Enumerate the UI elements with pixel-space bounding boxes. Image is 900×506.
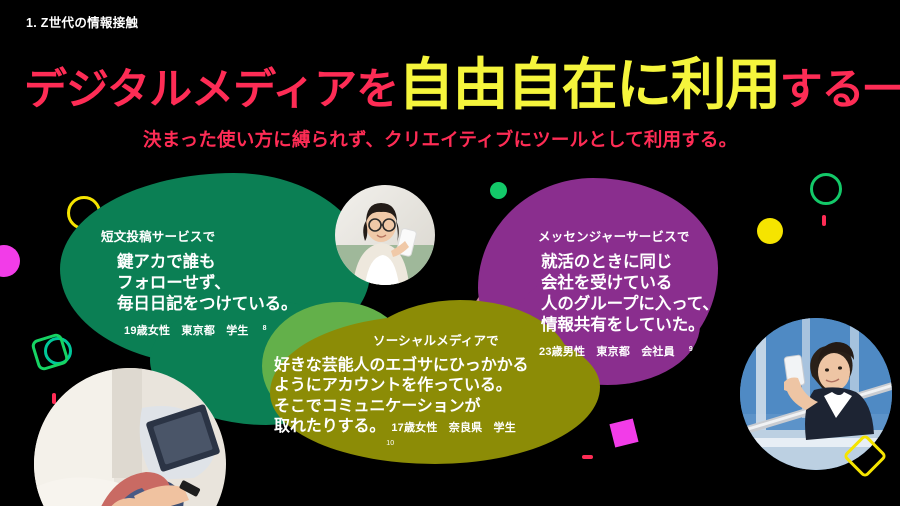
headline-part-3: する一面も。 <box>780 66 900 114</box>
section-label: 1. Z世代の情報接触 <box>26 12 138 31</box>
footnote-marker: 10 <box>274 440 528 447</box>
quote-line: ようにアカウントを作っている。 <box>274 376 528 396</box>
quote-line: 好きな芸能人のエゴサにひっかかる <box>274 356 528 376</box>
slide-canvas: 1. Z世代の情報接触 デジタルメディアを自由自在に利用する一面も。 決まった使… <box>0 0 900 506</box>
quote-lead-olive: ソーシャルメディアで <box>274 330 528 349</box>
quote-lead-purple: メッセンジャーサービスで <box>538 226 719 245</box>
quote-line-with-attrib: 取れたりする。17歳女性 奈良県 学生 <box>274 417 528 437</box>
footnote-marker: 8 <box>263 325 267 332</box>
quote-line: 情報共有をしていた。 <box>541 315 719 336</box>
quote-body-green: 鍵アカで誰も フォローせず、 毎日日記をつけている。 <box>101 252 297 315</box>
quote-body-olive: 好きな芸能人のエゴサにひっかかる ようにアカウントを作っている。 そこでコミュニ… <box>274 356 528 438</box>
page-subtitle: 決まった使い方に縛られず、クリエイティブにツールとして利用する。 <box>143 126 737 152</box>
quote-line: 人のグループに入って、 <box>541 294 719 315</box>
quote-line: 就活のときに同じ <box>541 252 719 273</box>
attribution-text: 17歳女性 奈良県 学生 <box>391 422 516 434</box>
quote-lead-green: 短文投稿サービスで <box>101 226 297 245</box>
page-title: デジタルメディアを自由自在に利用する一面も。 <box>24 57 900 113</box>
footnote-marker: 9 <box>689 346 693 353</box>
quote-line: 会社を受けている <box>541 273 719 294</box>
quote-line: 取れたりする。 <box>274 418 385 435</box>
quote-line: フォローせず、 <box>117 273 297 294</box>
yellow-dot-icon <box>757 218 783 244</box>
quote-line: 鍵アカで誰も <box>117 252 297 273</box>
headline-part-2: 自由自在に利用 <box>398 53 780 116</box>
quote-attribution-green: 19歳女性 東京都 学生8 <box>101 322 297 338</box>
attribution-text: 19歳女性 東京都 学生 <box>124 325 249 337</box>
footer-bar: ♪TikTok for Business 「Z世代白書2023 ～自由に自遊する… <box>0 472 900 506</box>
quote-card-olive: ソーシャルメディアで 好きな芸能人のエゴサにひっかかる ようにアカウントを作って… <box>274 330 528 447</box>
photo-woman-with-phone-art <box>335 185 435 285</box>
magenta-square-icon <box>609 418 638 447</box>
pink-burst-right-icon <box>800 215 848 263</box>
quote-line: 毎日日記をつけている。 <box>117 294 297 315</box>
quote-attribution-purple: 23歳男性 東京都 会社員9 <box>538 343 719 359</box>
green-dot-icon <box>490 182 507 199</box>
quote-body-purple: 就活のときに同じ 会社を受けている 人のグループに入って、 情報共有をしていた。 <box>538 252 719 336</box>
quote-card-green: 短文投稿サービスで 鍵アカで誰も フォローせず、 毎日日記をつけている。 19歳… <box>101 226 297 338</box>
magenta-dot-icon <box>0 245 20 277</box>
quote-line: そこでコミュニケーションが <box>274 397 528 417</box>
quote-card-purple: メッセンジャーサービスで 就活のときに同じ 会社を受けている 人のグループに入っ… <box>538 226 719 359</box>
green-ring-icon <box>810 173 842 205</box>
photo-woman-with-phone <box>335 185 435 285</box>
attribution-text: 23歳男性 東京都 会社員 <box>539 346 675 358</box>
headline-part-1: デジタルメディアを <box>24 66 398 114</box>
